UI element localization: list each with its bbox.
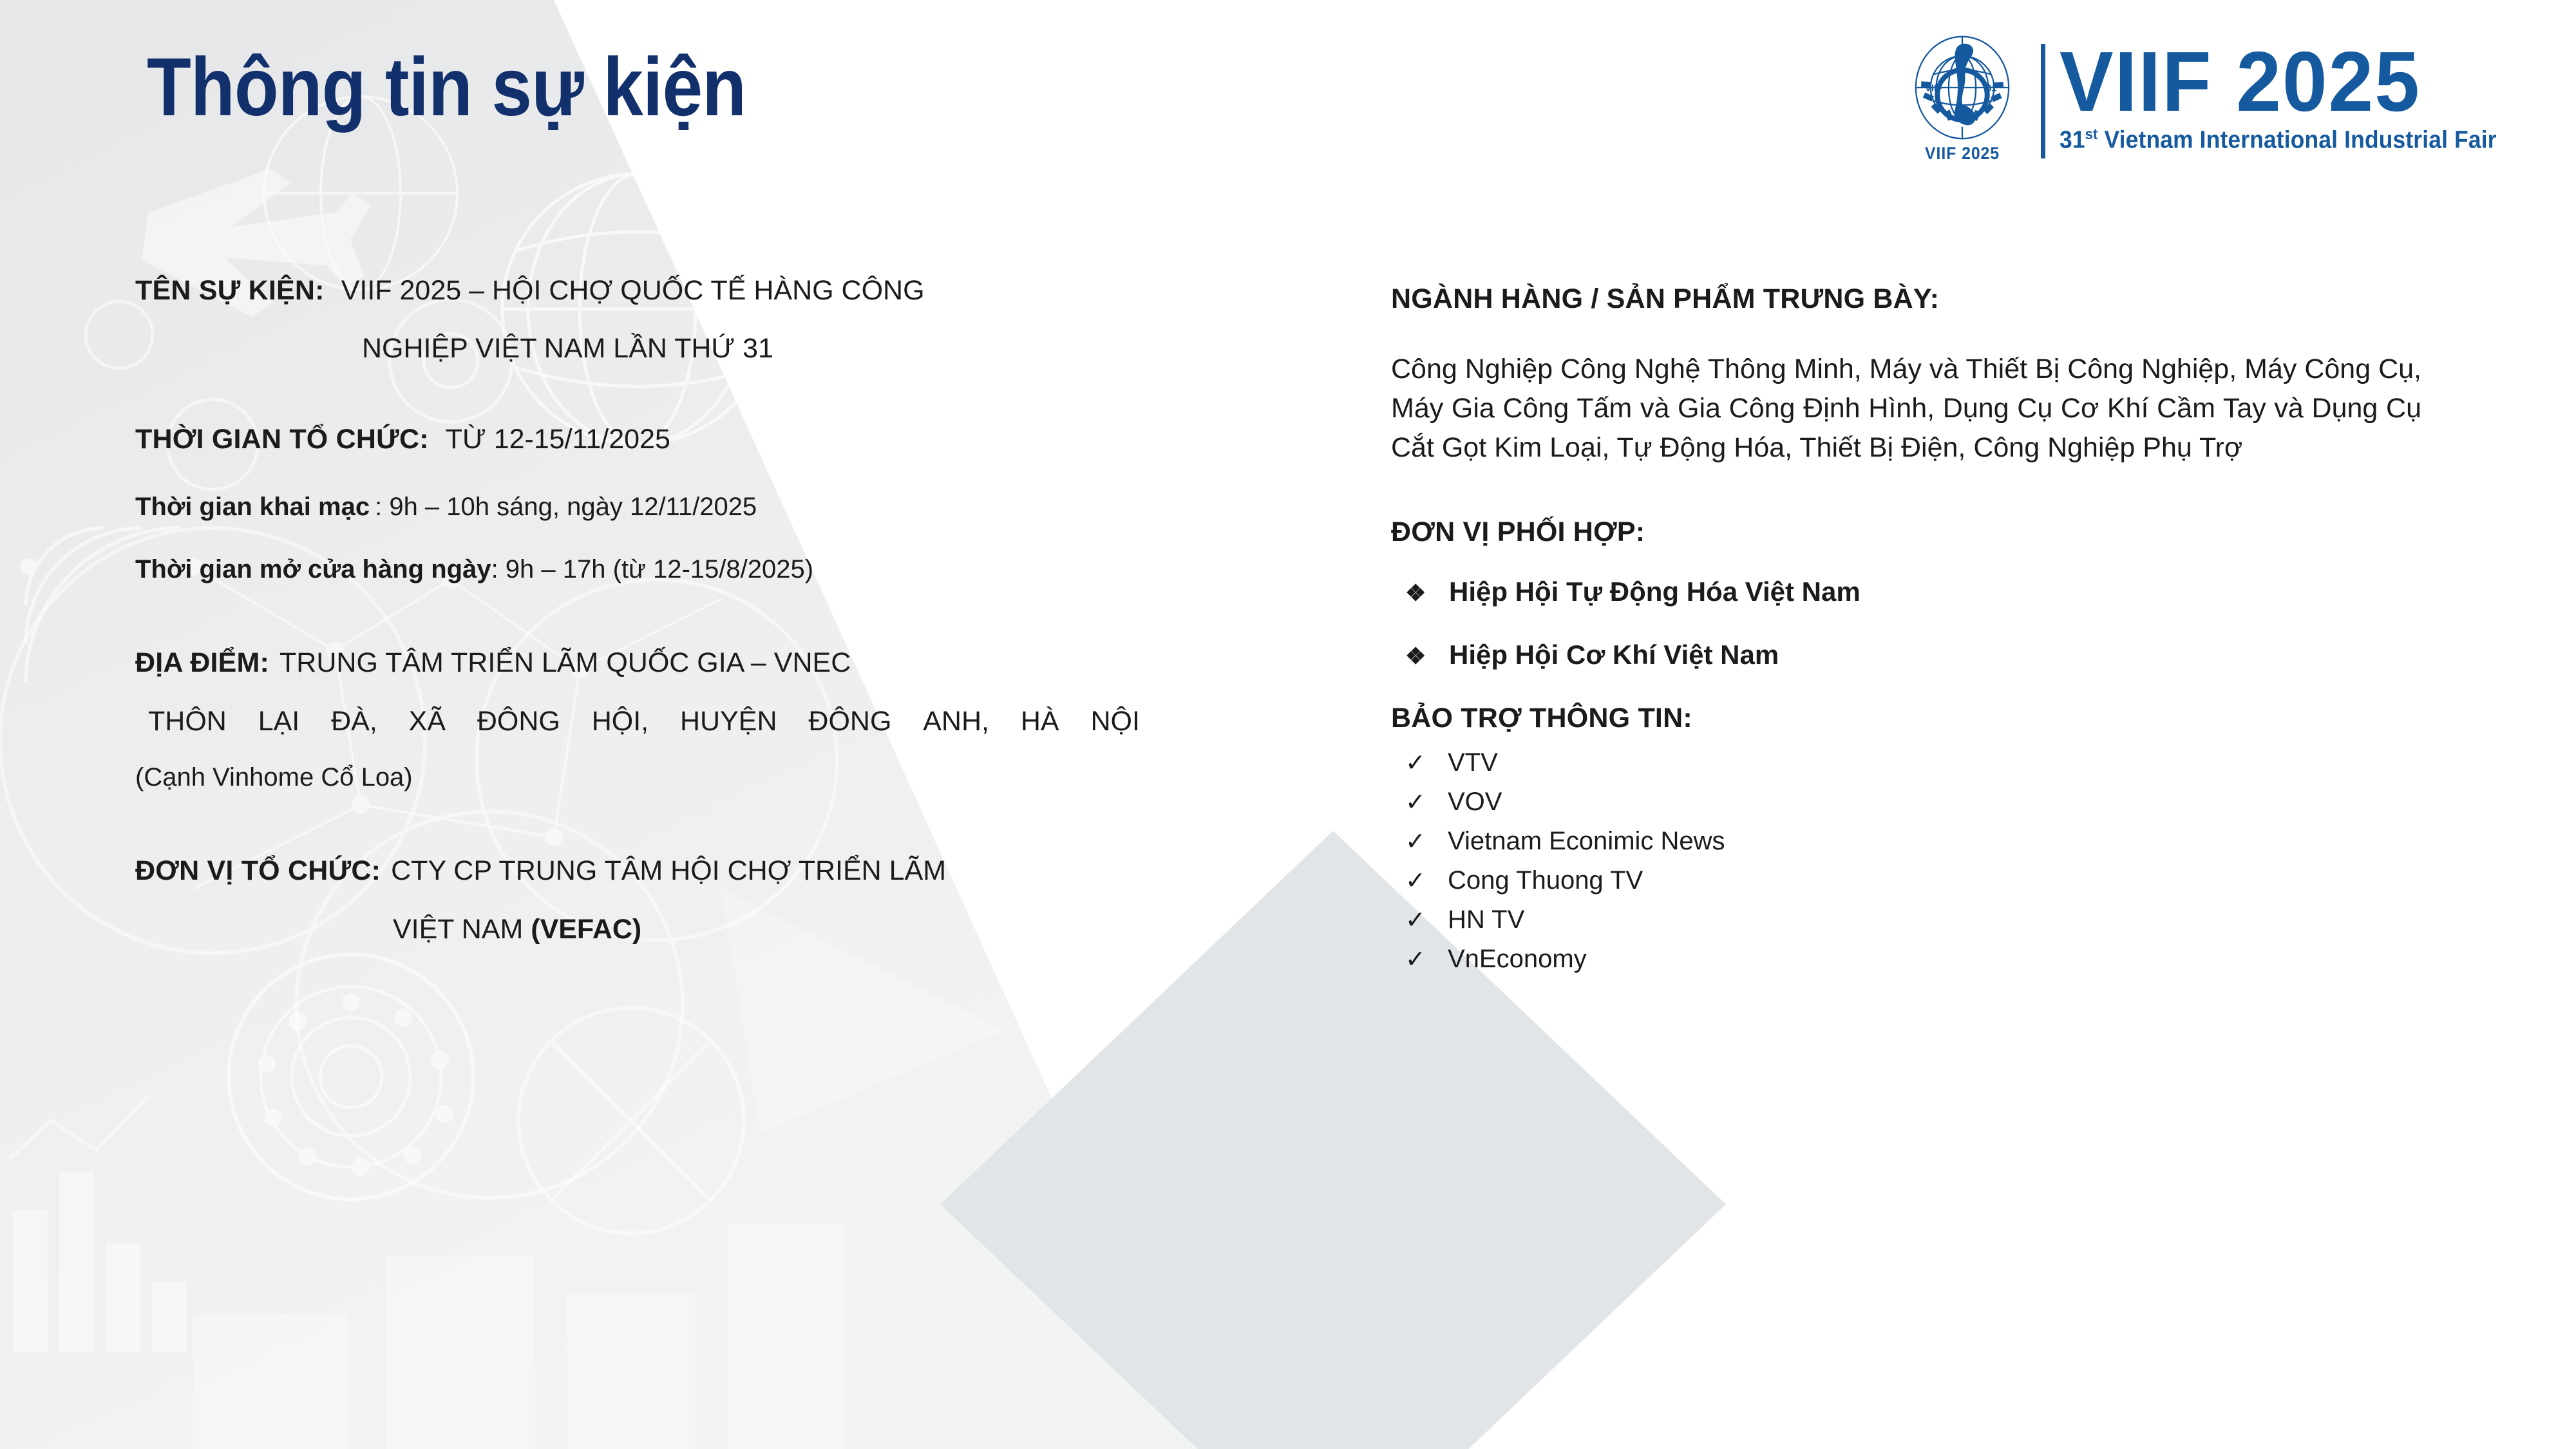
media-name: VTV <box>1448 748 1498 777</box>
schedule-main-line: THỜI GIAN TỔ CHỨC:TỪ 12-15/11/2025 <box>135 424 1179 455</box>
partner-name: Hiệp Hội Tự Động Hóa Việt Nam <box>1449 576 1861 607</box>
event-name-block: TÊN SỰ KIỆN:VIIF 2025 – HỘI CHỢ QUỐC TẾ … <box>135 277 1179 365</box>
viif-logo: VIIF 31 st VIIF 2025 VIIF 2025 31st Viet… <box>1898 33 2530 164</box>
diamond-bullet-icon: ❖ <box>1391 643 1449 670</box>
partners-heading: ĐƠN VỊ PHỐI HỢP: <box>1391 516 2460 548</box>
venue-word: THÔN <box>148 706 227 737</box>
venue-word: NỘI <box>1090 706 1139 737</box>
partner-name: Hiệp Hội Cơ Khí Việt Nam <box>1449 639 1779 670</box>
logo-emblem-group: VIIF 31 st VIIF 2025 <box>1898 33 2027 164</box>
products-paragraph: Công Nghiệp Công Nghệ Thông Minh, Máy và… <box>1391 350 2421 468</box>
venue-word: ĐÀ, <box>331 706 377 737</box>
schedule-block: THỜI GIAN TỔ CHỨC:TỪ 12-15/11/2025 Thời … <box>135 424 1179 584</box>
opening-time-value: : 9h – 10h sáng, ngày 12/11/2025 <box>375 493 757 521</box>
viif-emblem-icon: VIIF 31 st <box>1906 33 2019 142</box>
list-item: ✓ Vietnam Econimic News <box>1391 827 2460 856</box>
organizer-value-line1: CTY CP TRUNG TÂM HỘI CHỢ TRIỂN LÃM <box>391 855 946 886</box>
logo-tagline-rest: Vietnam International Industrial Fair <box>2098 127 2497 154</box>
organizer-block: ĐƠN VỊ TỔ CHỨC:CTY CP TRUNG TÂM HỘI CHỢ … <box>135 855 1179 945</box>
svg-text:st: st <box>1998 81 2003 88</box>
list-item: ✓ HN TV <box>1391 905 2460 934</box>
list-item: ✓ VOV <box>1391 788 2460 817</box>
organizer-value-line2-plain: VIỆT NAM <box>393 914 531 945</box>
list-item: ✓ VTV <box>1391 748 2460 777</box>
venue-word: ANH, <box>923 706 989 737</box>
list-item: ❖ Hiệp Hội Tự Động Hóa Việt Nam <box>1391 576 2460 607</box>
right-info-column: NGÀNH HÀNG / SẢN PHẨM TRƯNG BÀY: Công Ng… <box>1391 283 2460 984</box>
partners-list: ❖ Hiệp Hội Tự Động Hóa Việt Nam ❖ Hiệp H… <box>1391 576 2460 670</box>
venue-word: HÀ <box>1021 706 1059 737</box>
venue-word: LẠI <box>258 706 300 737</box>
products-heading: NGÀNH HÀNG / SẢN PHẨM TRƯNG BÀY: <box>1391 283 2460 315</box>
schedule-value: TỪ 12-15/11/2025 <box>446 424 670 455</box>
daily-time-value: : 9h – 17h (từ 12-15/8/2025) <box>491 555 813 583</box>
logo-tagline: 31st Vietnam International Industrial Fa… <box>2060 126 2497 155</box>
venue-line2: THÔN LẠI ĐÀ, XÃ ĐÔNG HỘI, HUYỆN ĐÔNG ANH… <box>135 706 1140 737</box>
list-item: ✓ Cong Thuong TV <box>1391 866 2460 895</box>
svg-text:VIIF: VIIF <box>1925 82 1942 93</box>
diamond-bullet-icon: ❖ <box>1391 580 1449 607</box>
opening-time-label: Thời gian khai mạc <box>135 493 370 521</box>
logo-emblem-caption: VIIF 2025 <box>1925 144 2000 164</box>
venue-word: HUYỆN <box>680 706 777 737</box>
check-icon: ✓ <box>1391 905 1448 934</box>
media-name: Cong Thuong TV <box>1448 866 1643 895</box>
venue-value-line1: TRUNG TÂM TRIỂN LÃM QUỐC GIA – VNEC <box>279 647 851 678</box>
organizer-label: ĐƠN VỊ TỔ CHỨC: <box>135 855 381 886</box>
logo-divider <box>2041 44 2045 158</box>
svg-text:31: 31 <box>1986 82 1997 93</box>
venue-label: ĐỊA ĐIỂM: <box>135 647 269 678</box>
schedule-label: THỜI GIAN TỔ CHỨC: <box>135 424 429 455</box>
venue-line1: ĐỊA ĐIỂM:TRUNG TÂM TRIỂN LÃM QUỐC GIA – … <box>135 647 1179 679</box>
event-name-value-line2: NGHIỆP VIỆT NAM LẦN THỨ 31 <box>135 333 1179 365</box>
list-item: ❖ Hiệp Hội Cơ Khí Việt Nam <box>1391 639 2460 670</box>
venue-word: ĐÔNG <box>808 706 891 737</box>
media-name: VnEconomy <box>1448 945 1587 974</box>
page-title: Thông tin sự kiện <box>147 44 746 131</box>
media-sponsors-heading: BẢO TRỢ THÔNG TIN: <box>1391 703 2460 734</box>
list-item: ✓ VnEconomy <box>1391 945 2460 974</box>
left-info-column: TÊN SỰ KIỆN:VIIF 2025 – HỘI CHỢ QUỐC TẾ … <box>135 277 1179 945</box>
opening-time-line: Thời gian khai mạc: 9h – 10h sáng, ngày … <box>135 493 1179 522</box>
organizer-line1: ĐƠN VỊ TỔ CHỨC:CTY CP TRUNG TÂM HỘI CHỢ … <box>135 855 1179 887</box>
slide-root: Thông tin sự kiện <box>0 0 2576 1449</box>
logo-tagline-ordinal: 31 <box>2060 127 2085 154</box>
organizer-line2: VIỆT NAM (VEFAC) <box>135 914 1179 945</box>
venue-line3: (Cạnh Vinhome Cổ Loa) <box>135 763 1179 792</box>
daily-time-label: Thời gian mở cửa hàng ngày <box>135 555 491 583</box>
check-icon: ✓ <box>1391 827 1448 856</box>
daily-time-line: Thời gian mở cửa hàng ngày: 9h – 17h (từ… <box>135 555 1179 584</box>
logo-tagline-ordinal-sup: st <box>2085 126 2098 142</box>
media-name: VOV <box>1448 788 1502 817</box>
event-name-label: TÊN SỰ KIỆN: <box>135 275 325 306</box>
check-icon: ✓ <box>1391 945 1448 974</box>
check-icon: ✓ <box>1391 748 1448 777</box>
venue-word: ĐÔNG <box>477 706 560 737</box>
venue-word: HỘI, <box>592 706 649 737</box>
media-sponsors-list: ✓ VTV ✓ VOV ✓ Vietnam Econimic News ✓ Co… <box>1391 748 2460 974</box>
logo-text-group: VIIF 2025 31st Vietnam International Ind… <box>2060 43 2530 155</box>
media-name: HN TV <box>1448 905 1524 934</box>
media-name: Vietnam Econimic News <box>1448 827 1725 856</box>
logo-wordmark: VIIF 2025 <box>2060 43 2421 120</box>
venue-block: ĐỊA ĐIỂM:TRUNG TÂM TRIỂN LÃM QUỐC GIA – … <box>135 647 1179 792</box>
venue-word: XÃ <box>409 706 446 737</box>
check-icon: ✓ <box>1391 866 1448 895</box>
event-name-line1: TÊN SỰ KIỆN:VIIF 2025 – HỘI CHỢ QUỐC TẾ … <box>135 277 1179 305</box>
organizer-abbreviation: (VEFAC) <box>531 914 641 945</box>
event-name-value-line1: VIIF 2025 – HỘI CHỢ QUỐC TẾ HÀNG CÔNG <box>341 275 925 306</box>
check-icon: ✓ <box>1391 788 1448 817</box>
